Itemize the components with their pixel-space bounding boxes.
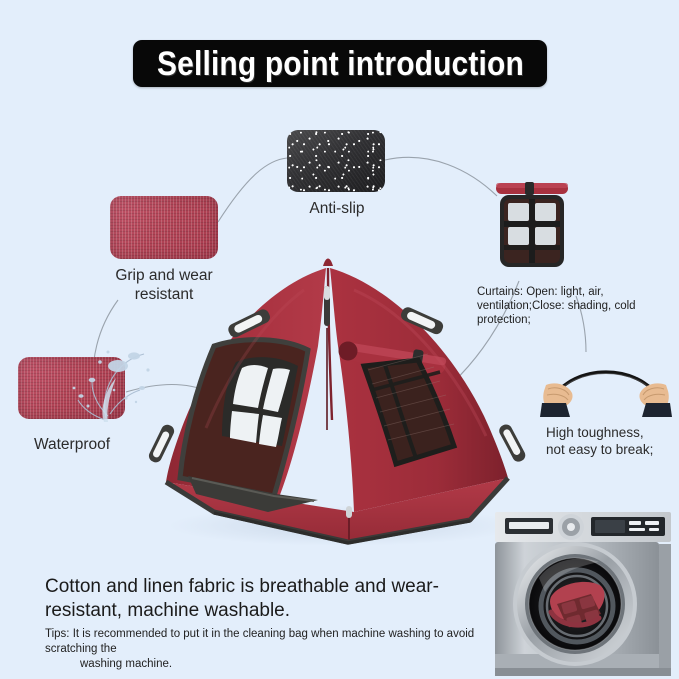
tip-line2: washing machine. — [45, 657, 495, 672]
toughness-label-line2: not easy to break; — [546, 442, 653, 457]
bottom-tip: Tips: It is recommended to put it in the… — [45, 627, 495, 672]
waterproof-label: Waterproof — [12, 435, 132, 454]
bottom-headline: Cotton and linen fabric is breathable an… — [45, 575, 490, 622]
page-title-banner: Selling point introduction — [133, 40, 547, 87]
antislip-fabric-swatch — [287, 130, 385, 192]
pole-toughness-photo — [540, 355, 672, 421]
page-title: Selling point introduction — [157, 47, 524, 81]
product-tent-image — [118, 250, 558, 550]
tip-line1: It is recommended to put it in the clean… — [45, 628, 474, 655]
tip-prefix: Tips: — [45, 628, 70, 640]
toughness-label-line1: High toughness, — [546, 425, 644, 440]
antislip-label: Anti-slip — [290, 199, 384, 218]
washing-machine-image — [487, 508, 679, 679]
infographic-page: Selling point introduction Grip and wear… — [0, 0, 679, 679]
toughness-label: High toughness, not easy to break; — [546, 424, 679, 458]
